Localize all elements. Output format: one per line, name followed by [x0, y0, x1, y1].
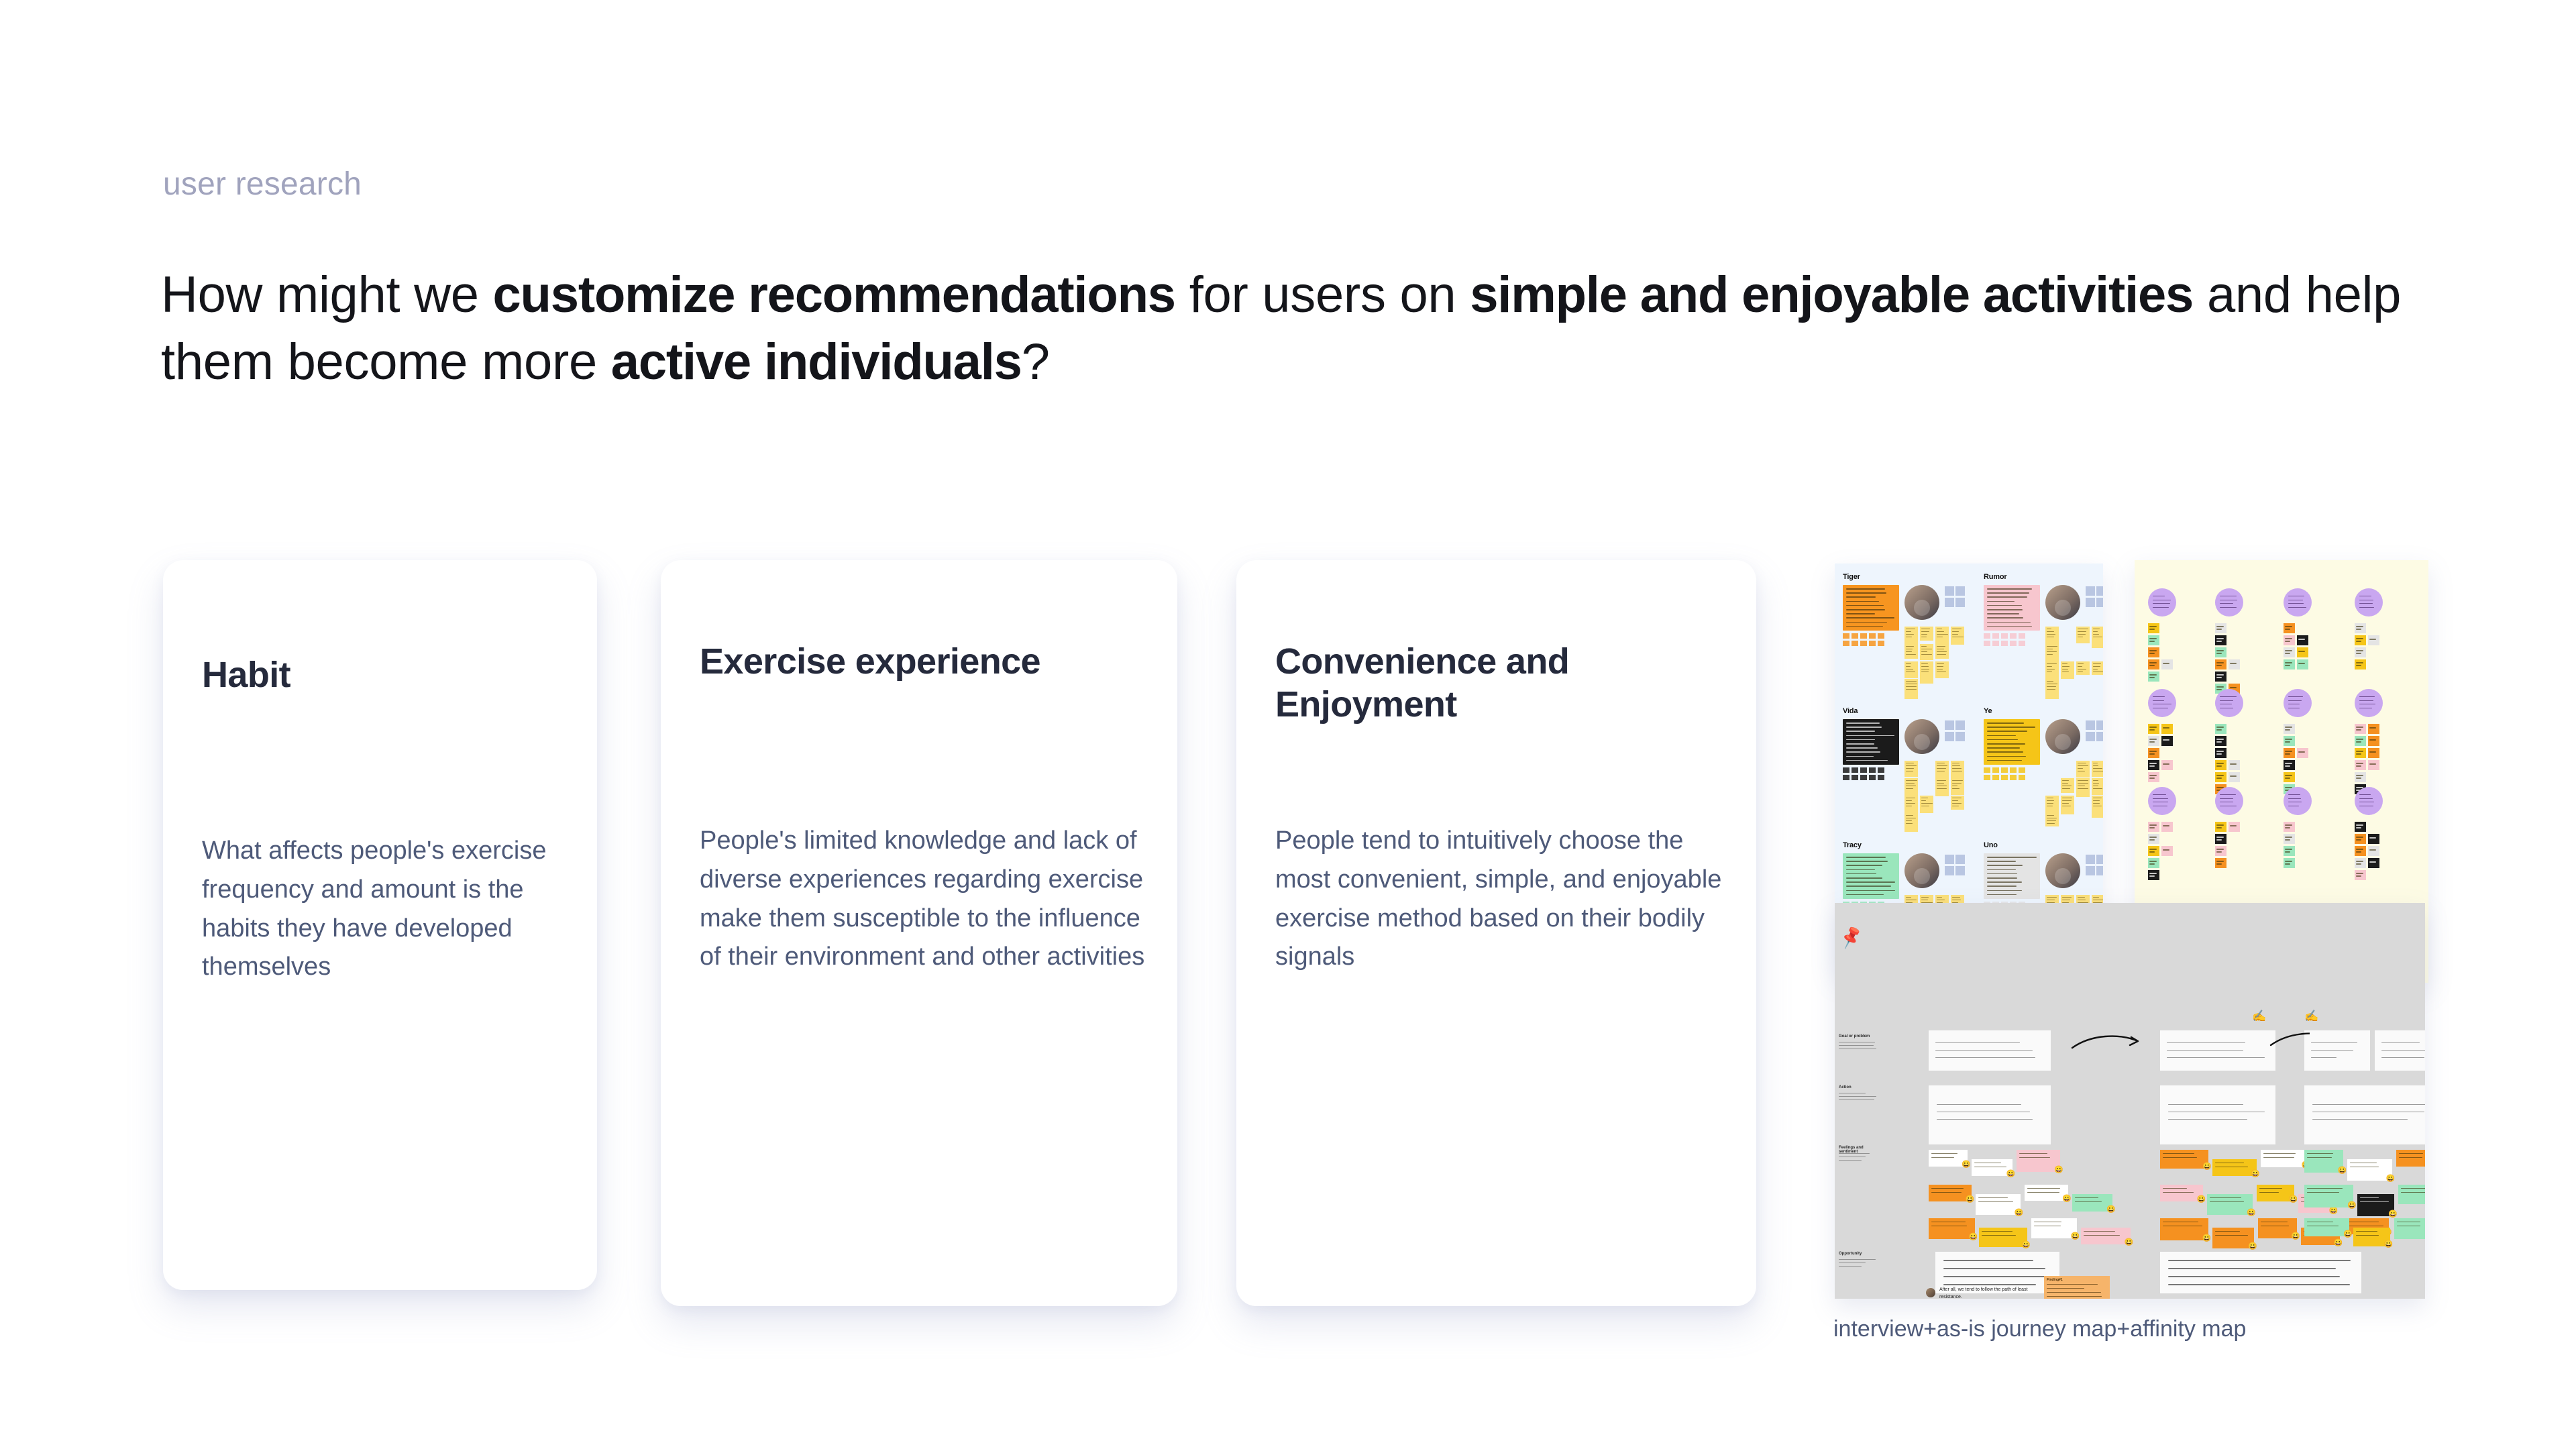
text-line — [2168, 1104, 2243, 1105]
text-line — [1921, 637, 1927, 637]
journey-sticky — [2394, 1218, 2425, 1239]
text-line — [2047, 689, 2055, 690]
text-line — [2285, 741, 2290, 743]
text-line — [2047, 897, 2057, 898]
text-line — [2285, 753, 2290, 755]
text-line — [1846, 601, 1879, 602]
text-line — [2285, 827, 2290, 828]
text-line — [2168, 1112, 2265, 1112]
quote-avatar — [1926, 1288, 1935, 1297]
card-title: Habit — [202, 654, 570, 697]
text-line — [2216, 650, 2224, 651]
tag-chip — [1860, 641, 1867, 646]
text-line — [1974, 1163, 2001, 1163]
text-line — [1974, 1167, 2006, 1167]
affinity-sticky — [2215, 772, 2226, 782]
text-line — [1839, 1259, 1876, 1260]
blue-tag-note — [1945, 866, 1954, 875]
pushpin-icon: 📌 — [1838, 926, 1864, 949]
text-line — [2285, 727, 2292, 728]
affinity-sticky — [2284, 846, 2295, 856]
writing-hand-icon: ✍️ — [2252, 1010, 2266, 1022]
text-line — [2288, 798, 2301, 799]
text-line — [2149, 753, 2155, 755]
text-line — [2163, 1226, 2202, 1226]
text-line — [1987, 617, 2023, 619]
affinity-sticky — [2148, 858, 2159, 868]
tag-chip — [1992, 641, 1999, 646]
sticky-note — [2076, 627, 2090, 643]
affinity-sticky — [2148, 736, 2159, 746]
reaction-emoji: 😀 — [2006, 1171, 2016, 1178]
affinity-sticky — [2355, 659, 2366, 669]
text-line — [1987, 890, 2022, 892]
text-line — [1846, 731, 1875, 732]
text-line — [2263, 1157, 2294, 1158]
tag-chip — [1878, 641, 1884, 646]
participant-name: Uno — [1984, 841, 1998, 849]
reaction-emoji: 😀 — [2015, 1210, 2024, 1217]
affinity-sticky — [2161, 724, 2173, 734]
text-line — [2369, 727, 2376, 729]
reaction-emoji: 😀 — [2291, 1233, 2300, 1240]
text-line — [2285, 824, 2292, 826]
text-line — [2230, 763, 2237, 765]
text-line — [2149, 641, 2155, 642]
text-line — [1921, 806, 1929, 806]
headline-text: ? — [1022, 333, 1050, 390]
tag-chip — [2010, 633, 2017, 639]
text-line — [1839, 1096, 1876, 1097]
text-line — [2298, 639, 2305, 640]
reaction-emoji: 😀 — [2021, 1242, 2031, 1249]
text-line — [2399, 1153, 2423, 1154]
affinity-sticky — [2215, 736, 2226, 746]
participant-summary-card — [1984, 719, 2040, 765]
text-line — [2163, 825, 2169, 826]
reaction-emoji: 😀 — [2347, 1202, 2357, 1210]
reaction-emoji: 😀 — [2337, 1167, 2347, 1175]
text-line — [2167, 1057, 2265, 1058]
headline-text: How might we — [161, 266, 492, 323]
quote-text: After all, we tend to follow the path of… — [1939, 1287, 2040, 1299]
text-line — [1937, 900, 1945, 900]
text-line — [2356, 753, 2361, 755]
text-line — [1987, 605, 2022, 606]
text-line — [2220, 794, 2236, 795]
sticky-note — [2092, 661, 2103, 675]
text-line — [2216, 653, 2222, 654]
text-line — [1987, 760, 2022, 761]
affinity-sticky — [2355, 724, 2366, 734]
text-line — [2149, 851, 2155, 853]
affinity-sticky — [2284, 736, 2295, 746]
text-line — [1982, 1231, 2013, 1232]
text-line — [2078, 672, 2083, 672]
text-line — [2163, 849, 2169, 851]
text-line — [1943, 1268, 2045, 1269]
text-line — [2149, 765, 2155, 767]
sticky-note — [2076, 661, 2090, 675]
tag-chip — [1843, 767, 1849, 773]
text-line — [2288, 596, 2304, 596]
text-line — [2356, 824, 2363, 826]
text-line — [1937, 654, 1946, 655]
text-line — [2215, 1163, 2244, 1163]
text-line — [1921, 646, 1927, 647]
sticky-note — [1920, 796, 1933, 813]
text-line — [1846, 894, 1884, 896]
text-line — [1846, 756, 1874, 757]
affinity-sticky — [2148, 760, 2159, 770]
blue-tag-note — [1955, 586, 1965, 596]
as-is-journey-map-thumbnail[interactable]: 📌Goal or problemActionFeelings and senti… — [1835, 903, 2425, 1299]
affinity-sticky — [2148, 748, 2159, 758]
text-line — [1943, 1276, 2050, 1277]
text-line — [2093, 629, 2100, 629]
tag-chip — [1984, 767, 1990, 773]
affinity-cluster-circle — [2284, 689, 2312, 717]
text-line — [2078, 788, 2088, 789]
text-line — [2298, 663, 2305, 664]
affinity-sticky — [2284, 772, 2295, 782]
text-line — [1906, 654, 1916, 655]
text-line — [2359, 700, 2373, 701]
text-line — [2285, 839, 2290, 841]
affinity-sticky — [2148, 635, 2159, 645]
text-line — [2093, 897, 2099, 898]
text-line — [1931, 1226, 1967, 1226]
affinity-sticky — [2148, 724, 2159, 734]
sticky-note — [1920, 661, 1933, 684]
slide-root: user research How might we customize rec… — [0, 0, 2576, 1449]
tag-chip — [2001, 767, 2008, 773]
text-line — [2210, 1201, 2244, 1202]
tag-chip — [2019, 767, 2025, 773]
text-line — [1906, 629, 1915, 629]
affinity-sticky — [2148, 834, 2159, 844]
text-line — [2078, 771, 2085, 771]
text-line — [2153, 696, 2165, 697]
affinity-cluster-circle — [2284, 588, 2312, 616]
text-line — [2084, 1231, 2115, 1232]
text-line — [2168, 1284, 2350, 1285]
text-line — [2359, 704, 2375, 704]
text-line — [2356, 763, 2363, 764]
text-line — [2285, 765, 2290, 767]
text-line — [2216, 765, 2222, 767]
text-line — [2047, 820, 2056, 821]
participant-name: Vida — [1843, 707, 1858, 715]
sticky-note — [2076, 778, 2090, 797]
tag-chip — [2001, 775, 2008, 780]
text-line — [1937, 651, 1947, 652]
blue-tag-note — [2096, 866, 2103, 875]
participant-summary-card — [1843, 719, 1899, 765]
journey-card — [2160, 1030, 2275, 1071]
participant-summary-card — [1984, 585, 2040, 631]
journey-arrow-icon — [2071, 1032, 2145, 1059]
text-line — [2356, 665, 2361, 666]
text-line — [2359, 696, 2375, 697]
avatar-face — [2055, 734, 2071, 750]
text-line — [1921, 800, 1926, 801]
sticky-note — [2045, 813, 2059, 826]
reaction-emoji: 😀 — [1969, 1234, 1978, 1241]
text-line — [2285, 775, 2292, 776]
text-line — [2288, 794, 2300, 795]
text-line — [2149, 674, 2157, 676]
text-line — [1952, 803, 1962, 804]
journey-sticky — [2207, 1194, 2253, 1215]
text-line — [2078, 631, 2086, 632]
text-line — [1846, 890, 1895, 892]
tag-chip — [1851, 641, 1858, 646]
tag-chip — [2001, 633, 2008, 639]
text-line — [1906, 763, 1914, 763]
text-line — [2062, 788, 2070, 789]
reaction-emoji: 😀 — [2343, 1231, 2353, 1238]
text-line — [1937, 788, 1947, 789]
headline-emphasis: active individuals — [611, 333, 1022, 390]
text-line — [2149, 873, 2157, 874]
affinity-sticky — [2229, 822, 2240, 832]
sticky-note — [2061, 796, 2074, 814]
text-line — [1937, 669, 1943, 669]
text-line — [1952, 637, 1964, 637]
finding-label: Finding#1 — [2047, 1278, 2063, 1282]
text-line — [1987, 747, 2020, 749]
text-line — [2047, 669, 2055, 669]
affinity-sticky — [2148, 659, 2159, 669]
affinity-sticky — [2229, 659, 2240, 669]
tag-chip — [1878, 775, 1884, 780]
tag-chip — [2019, 641, 2025, 646]
text-line — [2093, 771, 2103, 771]
text-line — [2285, 626, 2292, 627]
affinity-sticky — [2368, 846, 2379, 856]
blue-tag-note — [2086, 866, 2095, 875]
blue-tag-note — [2086, 598, 2095, 607]
participant-avatar — [2045, 719, 2080, 754]
text-line — [2216, 727, 2224, 728]
research-collage[interactable]: TigerRumorVidaYeTracyUno 📌Goal or proble… — [1835, 557, 2438, 1322]
text-line — [1987, 731, 2027, 732]
text-line — [2288, 603, 2304, 604]
insight-card[interactable]: Convenience and Enjoyment People tend to… — [1236, 560, 1756, 1306]
text-line — [2093, 663, 2101, 664]
text-line — [2285, 851, 2290, 853]
sticky-note — [2092, 761, 2103, 777]
insight-card[interactable]: Exercise experience People's limited kno… — [661, 560, 1177, 1306]
text-line — [1931, 1222, 1966, 1222]
journey-sticky — [2160, 1218, 2208, 1240]
text-line — [2311, 1050, 2353, 1051]
text-line — [2356, 751, 2363, 752]
text-line — [2216, 849, 2224, 850]
text-line — [2078, 900, 2086, 900]
text-line — [2311, 1057, 2337, 1058]
sticky-note — [1920, 627, 1933, 641]
card-body: People's limited knowledge and lack of d… — [700, 822, 1148, 977]
journey-row-label: Action — [1839, 1085, 1879, 1089]
text-line — [1839, 1160, 1862, 1161]
text-line — [2047, 666, 2052, 667]
text-line — [2397, 1226, 2420, 1226]
text-line — [2216, 641, 2222, 642]
sticky-note — [2092, 627, 2103, 648]
text-line — [2356, 765, 2361, 767]
text-line — [1906, 681, 1917, 682]
text-line — [2259, 1192, 2278, 1193]
participant-name: Tiger — [1843, 573, 1860, 581]
text-line — [1987, 865, 2023, 866]
text-line — [2163, 1157, 2197, 1158]
text-line — [1937, 786, 1947, 786]
affinity-sticky — [2161, 822, 2173, 832]
text-line — [2062, 663, 2068, 664]
text-line — [2078, 666, 2082, 667]
affinity-sticky — [2355, 858, 2366, 868]
text-line — [1846, 877, 1882, 879]
text-line — [2093, 798, 2102, 798]
sticky-note — [1935, 661, 1949, 678]
text-line — [2062, 666, 2070, 667]
blue-tag-note — [1955, 732, 1965, 741]
text-line — [2216, 729, 2222, 731]
text-line — [2263, 1153, 2296, 1154]
affinity-sticky — [2161, 659, 2173, 669]
reaction-emoji: 😀 — [2202, 1235, 2212, 1242]
text-line — [1921, 654, 1932, 655]
text-line — [2307, 1192, 2339, 1193]
text-line — [2216, 775, 2224, 776]
text-line — [1952, 900, 1961, 900]
affinity-sticky — [2297, 748, 2308, 758]
text-line — [2078, 634, 2086, 635]
affinity-sticky — [2284, 724, 2295, 734]
insight-card[interactable]: Habit What affects people's exercise fre… — [163, 560, 597, 1290]
text-line — [2369, 639, 2376, 640]
text-line — [1906, 684, 1917, 684]
text-line — [2356, 837, 2363, 838]
text-line — [1935, 1050, 2033, 1051]
sticky-note — [1935, 778, 1949, 796]
page-title: How might we customize recommendations f… — [161, 262, 2455, 396]
journey-summary-card — [2160, 1252, 2361, 1293]
text-line — [1987, 743, 2025, 745]
blue-tag-note — [2086, 732, 2095, 741]
text-line — [2369, 751, 2376, 753]
text-line — [1952, 786, 1957, 786]
blue-tag-note — [1945, 598, 1954, 607]
text-line — [1906, 780, 1917, 781]
headline-emphasis: simple and enjoyable activities — [1470, 266, 2193, 323]
affinity-cluster-circle — [2355, 787, 2383, 815]
blue-tag-note — [2096, 732, 2103, 741]
reaction-emoji: 😀 — [1962, 1161, 1971, 1169]
text-line — [2047, 1288, 2084, 1289]
text-line — [2356, 777, 2361, 779]
text-line — [2285, 777, 2290, 779]
text-line — [2369, 849, 2376, 851]
text-line — [2360, 1201, 2389, 1202]
text-line — [1846, 613, 1875, 614]
text-line — [1906, 786, 1916, 786]
text-line — [1906, 666, 1911, 667]
text-line — [2149, 837, 2157, 838]
text-line — [2216, 674, 2224, 676]
text-line — [2078, 897, 2085, 898]
text-line — [1987, 613, 2019, 614]
text-line — [1987, 877, 2017, 879]
text-line — [2047, 800, 2054, 801]
affinity-sticky — [2368, 834, 2379, 844]
text-line — [1952, 783, 1962, 784]
text-line — [2163, 763, 2169, 765]
affinity-sticky — [2161, 846, 2173, 856]
text-line — [2216, 837, 2224, 838]
journey-card — [1929, 1085, 2051, 1144]
affinity-sticky — [2215, 647, 2226, 657]
text-line — [1846, 865, 1882, 866]
text-line — [2149, 653, 2155, 654]
text-line — [2285, 641, 2290, 642]
text-line — [1839, 1266, 1862, 1267]
text-line — [2356, 641, 2361, 642]
affinity-sticky — [2148, 772, 2159, 782]
text-line — [2369, 837, 2376, 839]
text-line — [2093, 788, 2102, 789]
text-line — [1906, 897, 1911, 898]
affinity-cluster-circle — [2284, 787, 2312, 815]
participant-avatar — [2045, 853, 2080, 888]
sticky-note — [1951, 778, 1964, 795]
text-line — [2149, 863, 2155, 865]
affinity-sticky — [2297, 647, 2308, 657]
text-line — [2047, 818, 2057, 818]
text-line — [2220, 798, 2233, 799]
text-line — [2220, 802, 2233, 802]
affinity-sticky — [2215, 724, 2226, 734]
text-line — [2356, 638, 2363, 639]
text-line — [2093, 634, 2099, 635]
text-line — [2047, 637, 2054, 637]
text-line — [1921, 649, 1932, 649]
text-line — [2216, 863, 2222, 865]
text-line — [2356, 739, 2363, 740]
text-line — [2216, 751, 2224, 752]
text-line — [2034, 1226, 2061, 1226]
text-line — [1952, 763, 1960, 763]
tag-chip — [2010, 775, 2017, 780]
affinity-sticky — [2368, 760, 2379, 770]
text-line — [2093, 768, 2102, 769]
text-line — [1937, 1119, 2033, 1120]
text-line — [1839, 1093, 1866, 1093]
affinity-cluster-circle — [2148, 588, 2176, 616]
text-line — [2027, 1188, 2060, 1189]
text-line — [2093, 786, 2098, 786]
text-line — [1846, 609, 1885, 610]
text-line — [2216, 638, 2224, 639]
text-line — [1906, 669, 1913, 669]
sticky-note — [2092, 796, 2103, 818]
sticky-note — [2045, 644, 2059, 663]
collage-caption: interview+as-is journey map+affinity map — [1833, 1316, 2246, 1342]
text-line — [2216, 662, 2224, 663]
text-line — [1846, 588, 1885, 590]
